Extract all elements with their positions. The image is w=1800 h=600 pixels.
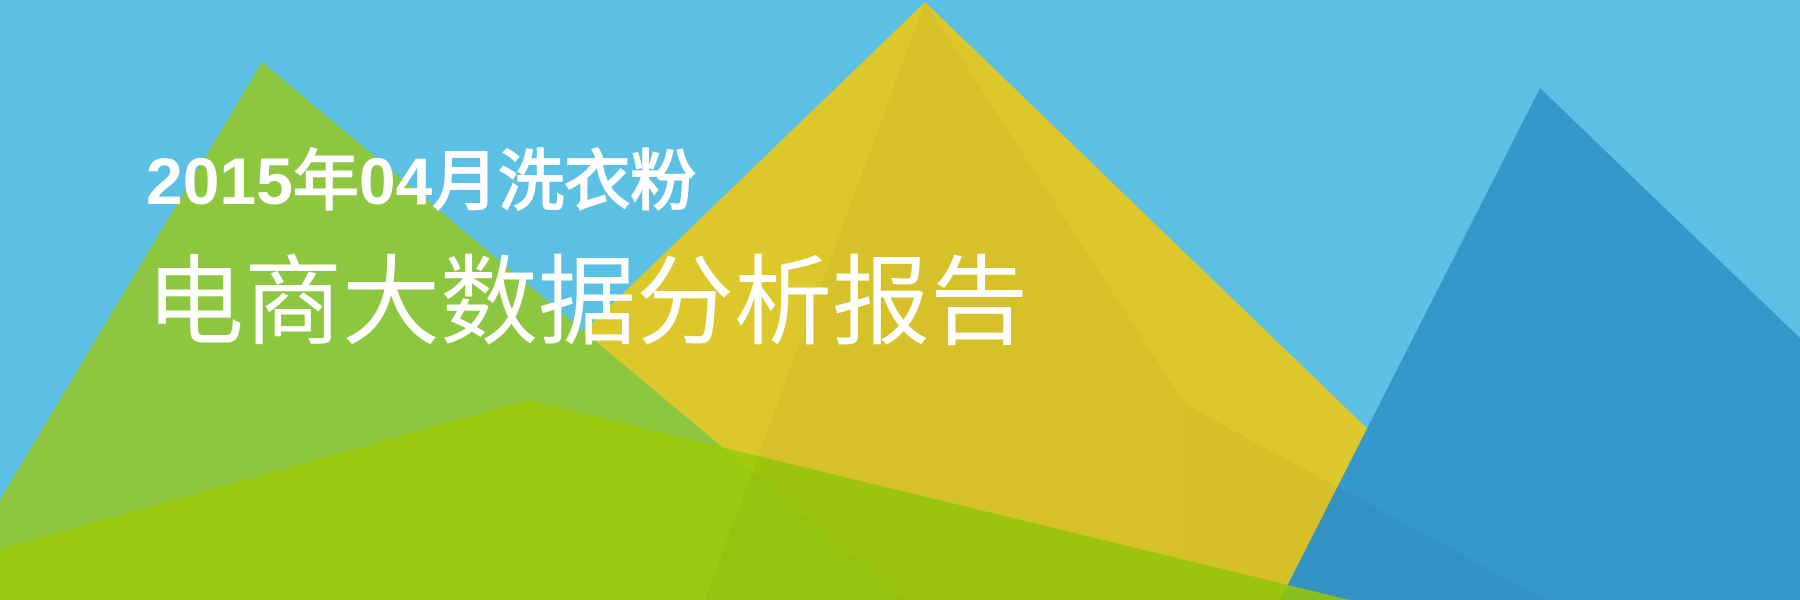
geometric-background — [0, 0, 1800, 600]
report-cover-banner: 2015年04月洗衣粉 电商大数据分析报告 — [0, 0, 1800, 600]
